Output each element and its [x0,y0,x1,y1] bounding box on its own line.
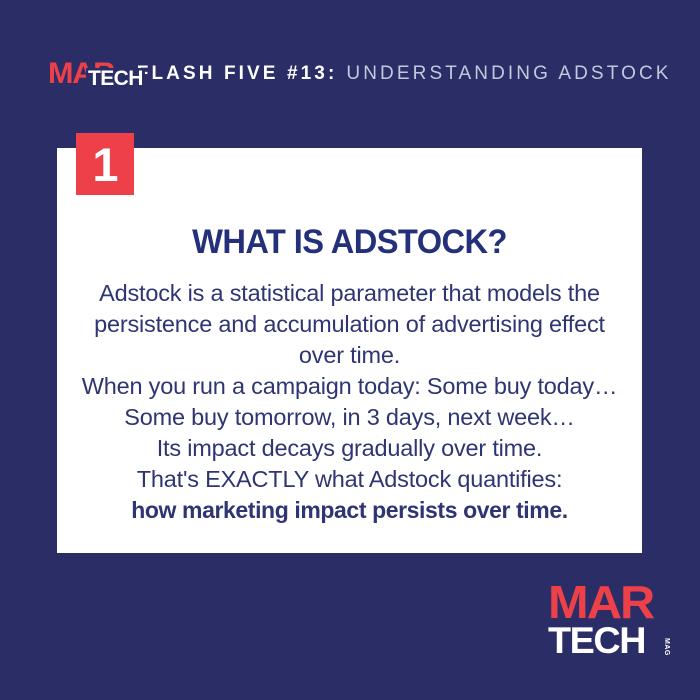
martech-header-logo: MAR TECH [48,59,113,89]
footer-logo-mar-text: MAR [548,582,667,622]
body-line: persistence and accumulation of advertis… [67,309,632,340]
footer-logo-tech-row: TECH MAG [548,624,660,658]
body-line: Some buy tomorrow, in 3 days, next week… [67,402,632,433]
card-title: WHAT IS ADSTOCK? [69,224,631,260]
body-line: Adstock is a statistical parameter that … [67,278,632,309]
card-body: Adstock is a statistical parameter that … [57,278,642,526]
header-series-label: FLASH FIVE #13: [137,63,338,85]
body-line: over time. [67,340,632,371]
header-logo-tech-text: TECH [86,68,145,90]
header-topic-label: UNDERSTANDING ADSTOCK [346,63,671,85]
poster-canvas: MAR TECH FLASH FIVE #13: UNDERSTANDING A… [0,0,700,700]
content-card: WHAT IS ADSTOCK? Adstock is a statistica… [57,148,642,553]
body-line-emphasis: how marketing impact persists over time. [67,495,632,526]
body-line: Its impact decays gradually over time. [67,433,632,464]
martech-footer-logo: MAR TECH MAG [548,582,660,658]
footer-logo-mag-text: MAG [663,638,670,656]
step-number-text: 1 [92,141,117,188]
card-content: WHAT IS ADSTOCK? Adstock is a statistica… [57,148,642,526]
footer-logo-tech-text: TECH [548,624,645,658]
body-line: That's EXACTLY what Adstock quantifies: [67,464,632,495]
body-line: When you run a campaign today: Some buy … [67,371,632,402]
step-number-badge: 1 [76,133,134,195]
header-bar: MAR TECH FLASH FIVE #13: UNDERSTANDING A… [48,57,672,91]
